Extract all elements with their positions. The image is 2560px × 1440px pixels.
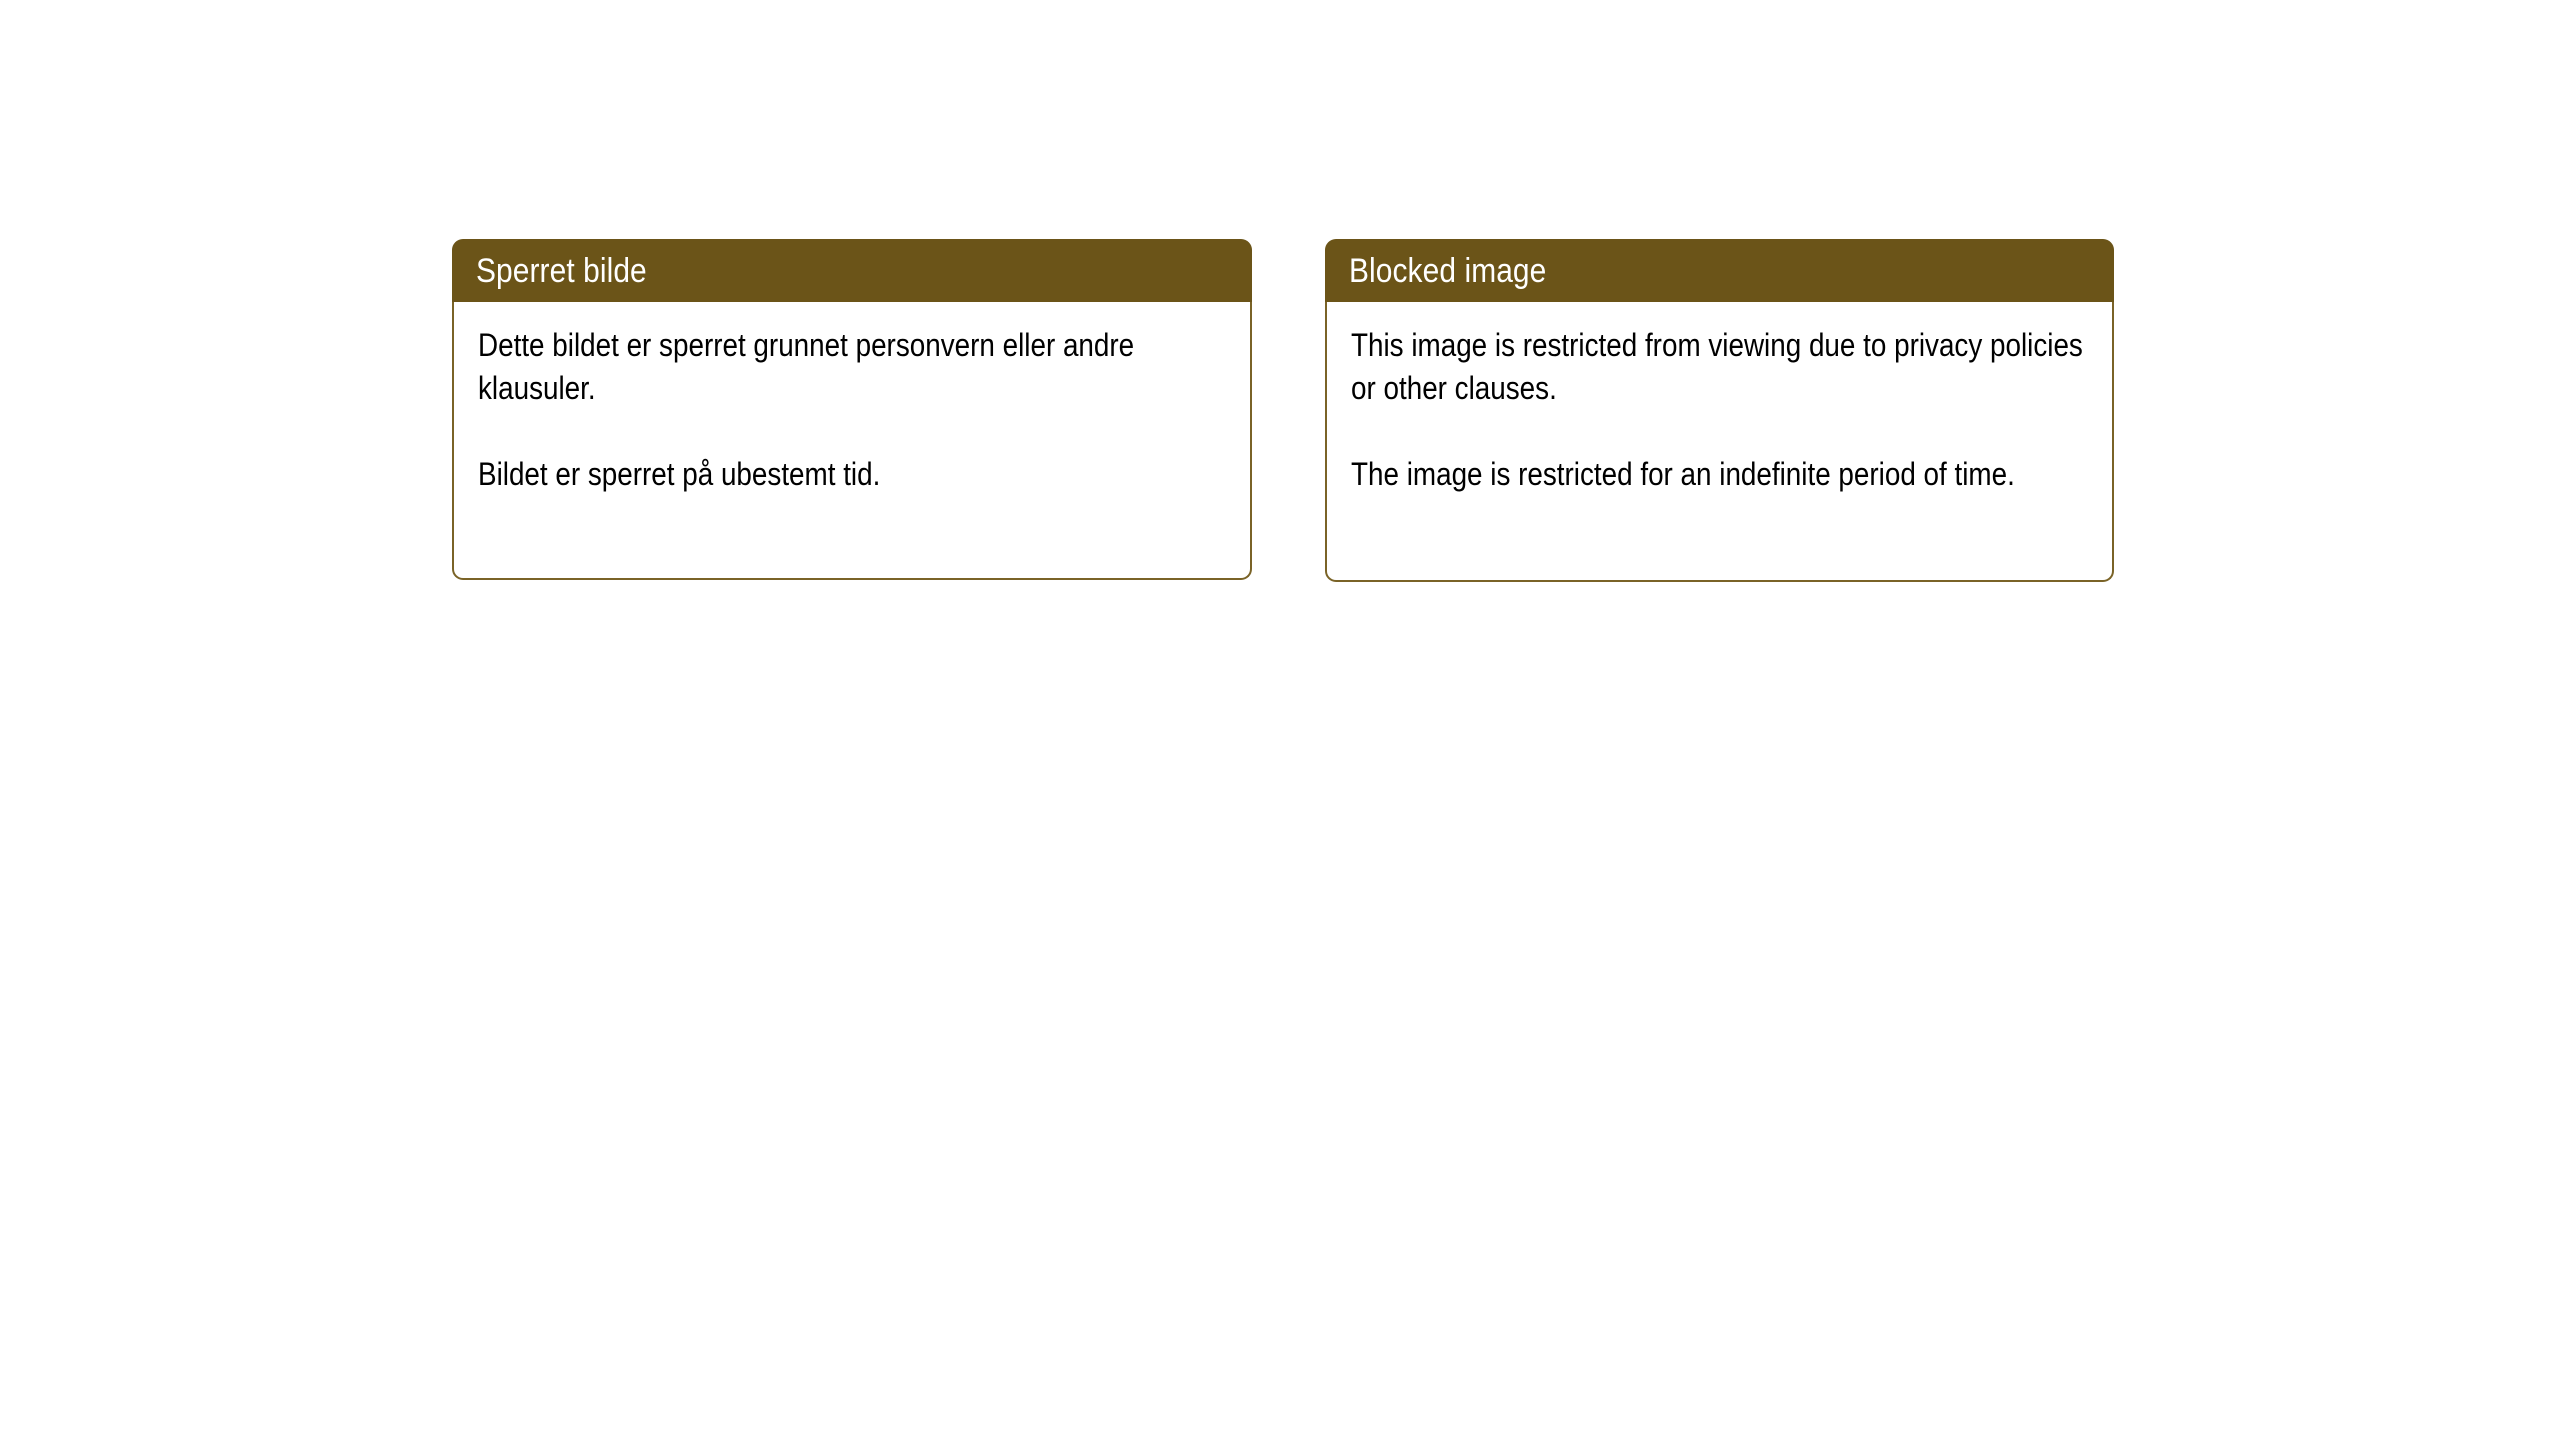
blocked-image-card-english: Blocked image This image is restricted f… — [1325, 239, 2114, 582]
card-header-norwegian: Sperret bilde — [452, 239, 1252, 302]
card-title-english: Blocked image — [1349, 252, 1546, 290]
card-body-norwegian: Dette bildet er sperret grunnet personve… — [452, 302, 1252, 580]
card-paragraph-privacy-english: This image is restricted from viewing du… — [1351, 324, 2090, 410]
card-header-english: Blocked image — [1325, 239, 2114, 302]
card-paragraph-duration-norwegian: Bildet er sperret på ubestemt tid. — [478, 453, 1228, 496]
card-title-norwegian: Sperret bilde — [476, 252, 647, 290]
card-paragraph-privacy-norwegian: Dette bildet er sperret grunnet personve… — [478, 324, 1228, 410]
card-body-english: This image is restricted from viewing du… — [1325, 302, 2114, 582]
page-canvas: Sperret bilde Dette bildet er sperret gr… — [0, 0, 2560, 1440]
blocked-image-card-norwegian: Sperret bilde Dette bildet er sperret gr… — [452, 239, 1252, 580]
card-paragraph-duration-english: The image is restricted for an indefinit… — [1351, 453, 2090, 496]
